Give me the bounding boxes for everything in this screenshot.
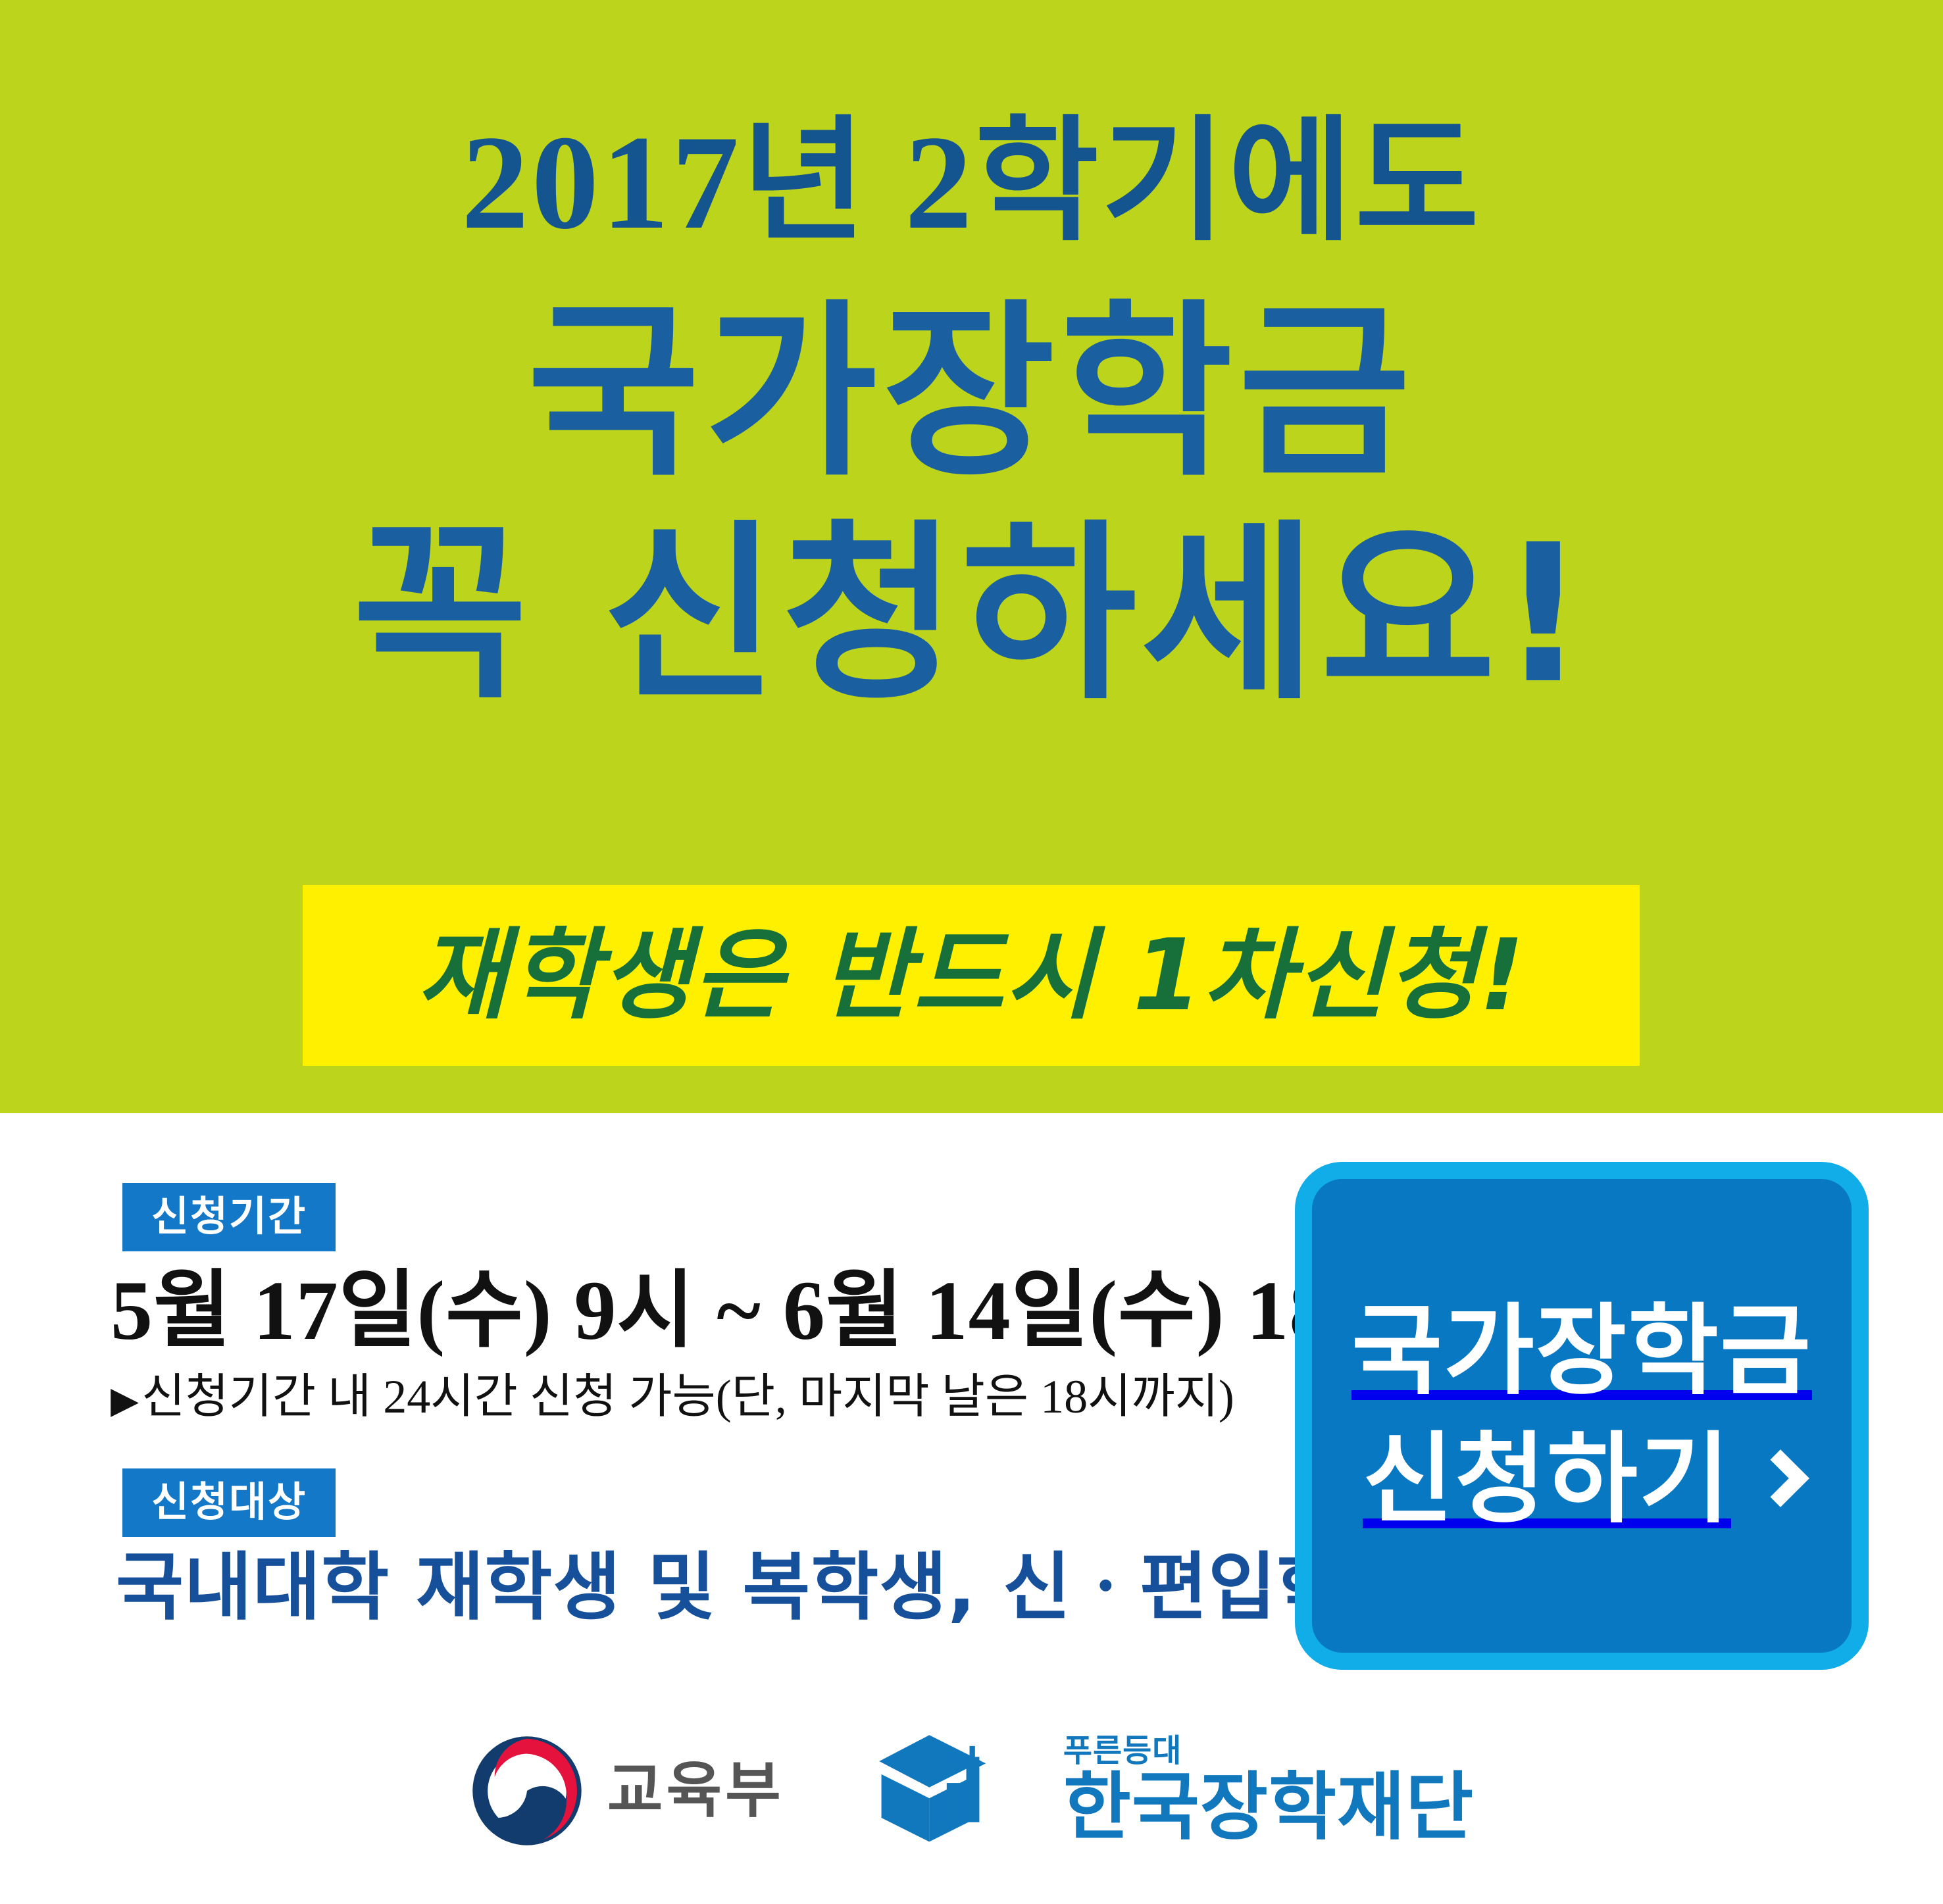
application-period-note: ▶신청기간 내 24시간 신청 가능(단, 마지막 날은 18시까지) [111,1371,1234,1423]
cta-label-line-2-row: 신청하기 [1363,1416,1801,1544]
application-target-badge: 신청대상 [122,1468,336,1537]
kosaf-sub-label: 푸른등대 [1063,1735,1182,1766]
highlight-callout-text: 재학생은 반드시 1차신청! [416,926,1525,1025]
kosaf-name: 한국장학재단 [1063,1770,1474,1844]
scholarship-promo-banner: 2017년 2학기에도 국가장학금 꼭 신청하세요! 재학생은 반드시 1차신청… [0,0,1943,1904]
cta-label-line-1: 국가장학금 [1351,1288,1812,1416]
ministry-of-education-wordmark: 교육부 [607,1761,784,1821]
triangle-bullet-icon: ▶ [111,1380,139,1421]
hero-section: 2017년 2학기에도 국가장학금 꼭 신청하세요! 재학생은 반드시 1차신청… [0,0,1943,1113]
kosaf-graduation-cap-lighthouse-icon [876,1733,1041,1846]
application-target-value: 국내대학 재학생 및 복학생, 신ㆍ편입학생 [116,1547,1413,1628]
hero-title-line-1: 국가장학금 [0,299,1943,487]
kosaf-wordmark-group: 푸른등대 한국장학재단 [1063,1735,1474,1844]
footer-logos: 교육부 푸른등대 [0,1724,1943,1904]
chevron-right-icon [1752,1449,1809,1507]
hero-title-line-2: 꼭 신청하세요! [0,520,1943,711]
hero-kicker-text: 2017년 2학기에도 [0,112,1943,253]
apply-scholarship-button[interactable]: 국가장학금 신청하기 [1295,1162,1869,1670]
application-period-badge: 신청기간 [122,1183,336,1251]
kosaf-logo: 푸른등대 한국장학재단 [876,1733,1474,1846]
cta-label-line-2: 신청하기 [1363,1416,1731,1544]
ministry-of-education-logo: 교육부 [469,1733,784,1849]
korea-government-taegeuk-icon [469,1733,585,1849]
highlight-callout-box: 재학생은 반드시 1차신청! [303,885,1640,1066]
application-period-note-text: 신청기간 내 24시간 신청 가능(단, 마지막 날은 18시까지) [141,1370,1234,1423]
application-period-value: 5월 17일(수) 9시 ~ 6월 14일(수) 18시 [111,1265,1410,1357]
